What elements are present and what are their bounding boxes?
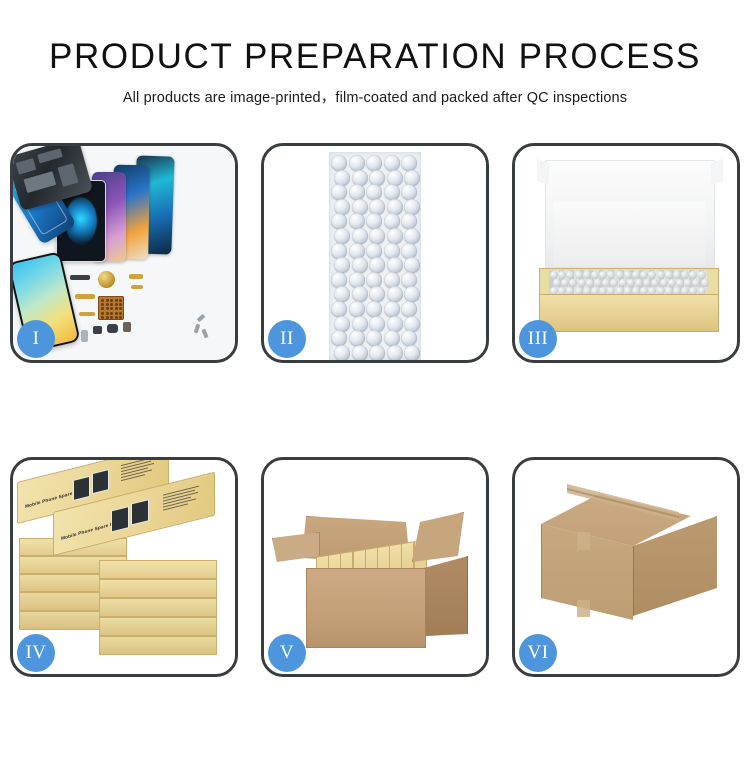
- bubble: [401, 243, 417, 259]
- bubble: [366, 184, 382, 200]
- bubble: [384, 213, 400, 229]
- bubble: [366, 330, 382, 346]
- bubble: [366, 213, 382, 229]
- bubble: [404, 199, 420, 215]
- bubble: [334, 345, 350, 360]
- bubble: [404, 345, 420, 360]
- step-panel-5[interactable]: V: [261, 457, 489, 677]
- step-badge-3: III: [519, 320, 557, 358]
- bubble: [352, 199, 368, 215]
- bubble: [384, 301, 400, 317]
- steps-grid: I II III: [0, 143, 750, 771]
- bubble: [387, 257, 403, 273]
- bubble: [349, 243, 365, 259]
- header: PRODUCT PREPARATION PROCESS All products…: [0, 0, 750, 107]
- bubble: [369, 257, 385, 273]
- step-badge-1: I: [17, 320, 55, 358]
- bubble: [369, 228, 385, 244]
- bubble: [349, 213, 365, 229]
- bubble: [401, 272, 417, 288]
- bubble: [334, 316, 350, 332]
- page-subtitle: All products are image-printed，film-coat…: [0, 76, 750, 107]
- bubble: [387, 199, 403, 215]
- bubble: [334, 257, 350, 273]
- bubble: [334, 286, 350, 302]
- bubble: [369, 199, 385, 215]
- step-panel-6[interactable]: VI: [512, 457, 740, 677]
- bubble: [352, 257, 368, 273]
- product-preparation-infographic: PRODUCT PREPARATION PROCESS All products…: [0, 0, 750, 750]
- bubble: [401, 213, 417, 229]
- bubble: [369, 345, 385, 360]
- bubble: [349, 272, 365, 288]
- bubble: [384, 330, 400, 346]
- bubble: [334, 170, 350, 186]
- bubble: [384, 155, 400, 171]
- bubble: [349, 301, 365, 317]
- bubble: [331, 155, 347, 171]
- steps-row-1: I II III: [0, 143, 750, 363]
- steps-row-2: Mobile Phone Spare Parts Mobile Phone Sp…: [0, 457, 750, 677]
- bubble: [387, 345, 403, 360]
- bubble: [366, 155, 382, 171]
- bubble: [331, 272, 347, 288]
- step-panel-2[interactable]: II: [261, 143, 489, 363]
- step-panel-1[interactable]: I: [10, 143, 238, 363]
- bubble: [401, 301, 417, 317]
- bubble: [401, 330, 417, 346]
- step-panel-4[interactable]: Mobile Phone Spare Parts Mobile Phone Sp…: [10, 457, 238, 677]
- bubble: [404, 286, 420, 302]
- bubble: [331, 213, 347, 229]
- bubble: [334, 228, 350, 244]
- bubble: [349, 330, 365, 346]
- step-badge-5: V: [268, 634, 306, 672]
- step-badge-2: II: [268, 320, 306, 358]
- bubble: [334, 199, 350, 215]
- bubble: [366, 272, 382, 288]
- bubble: [369, 170, 385, 186]
- bubble: [401, 184, 417, 200]
- bubble: [404, 316, 420, 332]
- bubble: [352, 170, 368, 186]
- bubble: [352, 345, 368, 360]
- bubble: [331, 184, 347, 200]
- page-title: PRODUCT PREPARATION PROCESS: [0, 0, 750, 76]
- step-panel-3[interactable]: III: [512, 143, 740, 363]
- bubble: [349, 184, 365, 200]
- bubble: [384, 243, 400, 259]
- bubble: [387, 286, 403, 302]
- bubble: [387, 316, 403, 332]
- bubble: [404, 228, 420, 244]
- bubble: [404, 170, 420, 186]
- bubble: [387, 228, 403, 244]
- bubble: [349, 155, 365, 171]
- bubble: [369, 286, 385, 302]
- bubble: [369, 316, 385, 332]
- step-badge-4: IV: [17, 634, 55, 672]
- bubble: [352, 228, 368, 244]
- bubble: [387, 170, 403, 186]
- bubble: [401, 155, 417, 171]
- bubble: [384, 184, 400, 200]
- bubble: [404, 257, 420, 273]
- bubble: [331, 330, 347, 346]
- bubble: [331, 243, 347, 259]
- step-badge-6: VI: [519, 634, 557, 672]
- bubble: [352, 286, 368, 302]
- bubble: [352, 316, 368, 332]
- bubble: [384, 272, 400, 288]
- bubble: [331, 301, 347, 317]
- bubble: [366, 243, 382, 259]
- bubble: [366, 301, 382, 317]
